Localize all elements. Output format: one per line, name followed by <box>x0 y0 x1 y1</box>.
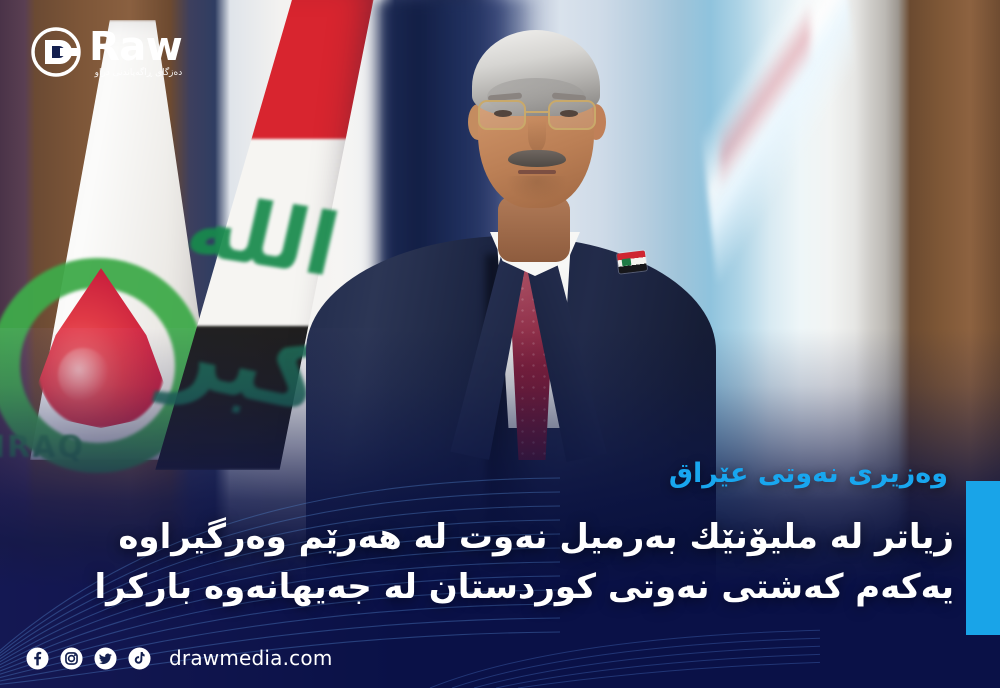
lens-right <box>548 100 596 130</box>
mustache <box>508 150 566 167</box>
headline-line-1: زیاتر له ملیۆنێك بەرمیل نەوت له هەرێم وە… <box>24 512 954 562</box>
article-kicker: وەزیری نەوتی عێراق <box>669 458 948 489</box>
draw-media-logo[interactable]: Raw دەزگای ڕاگەیاندنی دراو <box>30 26 182 78</box>
mouth <box>518 170 556 174</box>
news-card: IRAQ الله اكبر <box>0 0 1000 688</box>
tiktok-icon[interactable] <box>128 647 151 670</box>
iraq-flag-lapel-pin <box>617 250 647 273</box>
footer-bar: drawmedia.com <box>26 646 333 670</box>
screen-glare-secondary <box>720 0 810 206</box>
accent-bar <box>966 481 1000 635</box>
logo-wordmark: Raw <box>89 27 182 67</box>
glasses-bridge <box>526 111 548 113</box>
chin-shadow <box>506 176 568 202</box>
nose <box>528 120 546 152</box>
twitter-icon[interactable] <box>94 647 117 670</box>
lens-left <box>478 100 526 130</box>
facebook-icon[interactable] <box>26 647 49 670</box>
draw-logo-mark <box>30 26 82 78</box>
headline-line-2: یەکەم کەشتی نەوتی کوردستان لە جەیهانەوە … <box>24 562 954 612</box>
website-url[interactable]: drawmedia.com <box>169 646 333 670</box>
instagram-icon[interactable] <box>60 647 83 670</box>
article-headline: زیاتر له ملیۆنێك بەرمیل نەوت له هەرێم وە… <box>24 512 954 613</box>
logo-tagline: دەزگای ڕاگەیاندنی دراو <box>89 69 182 78</box>
